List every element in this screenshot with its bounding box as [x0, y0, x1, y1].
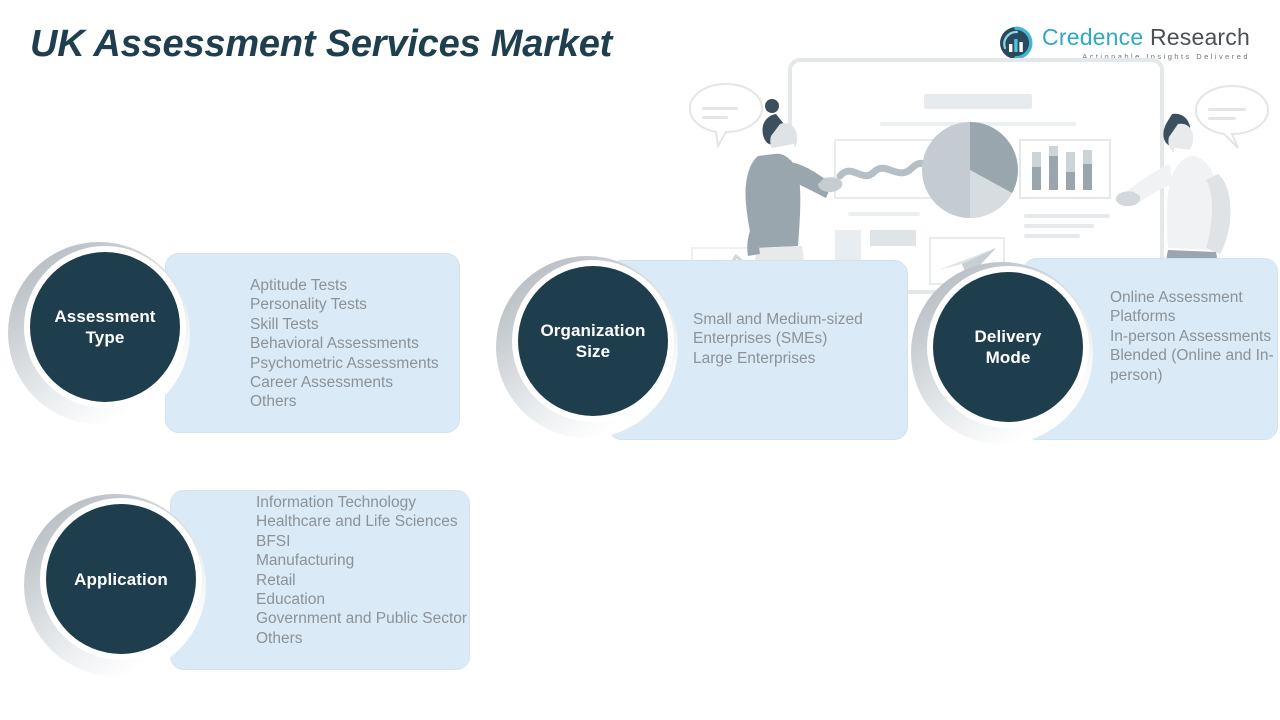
- circle-body: Delivery Mode: [933, 272, 1083, 422]
- card-organization-size[interactable]: Small and Medium-sized Enterprises (SMEs…: [490, 240, 920, 445]
- card-items-list: Small and Medium-sized Enterprises (SMEs…: [693, 310, 913, 368]
- card-circle[interactable]: Application: [24, 494, 206, 676]
- credence-research-logo: Credence Research Actionable Insights De…: [999, 26, 1250, 61]
- circle-body: Application: [46, 504, 196, 654]
- card-delivery-mode[interactable]: Online Assessment Platforms In-person As…: [905, 240, 1280, 445]
- card-items-list: Information Technology Healthcare and Li…: [256, 493, 486, 648]
- card-assessment-type[interactable]: Aptitude Tests Personality Tests Skill T…: [0, 228, 470, 440]
- card-title: Assessment Type: [54, 306, 155, 348]
- card-items-list: Aptitude Tests Personality Tests Skill T…: [250, 276, 480, 412]
- card-application[interactable]: Information Technology Healthcare and Li…: [0, 480, 480, 705]
- circle-body: Assessment Type: [30, 252, 180, 402]
- page-title: UK Assessment Services Market: [30, 23, 612, 66]
- card-title: Application: [74, 569, 168, 590]
- logo-word-credence: Credence: [1042, 24, 1143, 50]
- bar-chart-circle-icon: [999, 26, 1033, 60]
- bar-chart: [1032, 146, 1092, 190]
- card-circle[interactable]: Delivery Mode: [911, 262, 1093, 444]
- circle-body: Organization Size: [518, 266, 668, 416]
- card-items-list: Online Assessment Platforms In-person As…: [1110, 288, 1280, 385]
- card-title: Delivery Mode: [975, 326, 1042, 368]
- pie-chart: [922, 122, 1018, 218]
- card-circle[interactable]: Organization Size: [496, 256, 678, 438]
- speech-bubble-right: [1196, 86, 1268, 148]
- logo-tagline: Actionable Insights Delivered: [1042, 53, 1250, 61]
- card-title: Organization Size: [540, 320, 645, 362]
- speech-bubble-left: [690, 84, 762, 146]
- card-circle[interactable]: Assessment Type: [8, 242, 190, 424]
- logo-word-research: Research: [1150, 24, 1250, 50]
